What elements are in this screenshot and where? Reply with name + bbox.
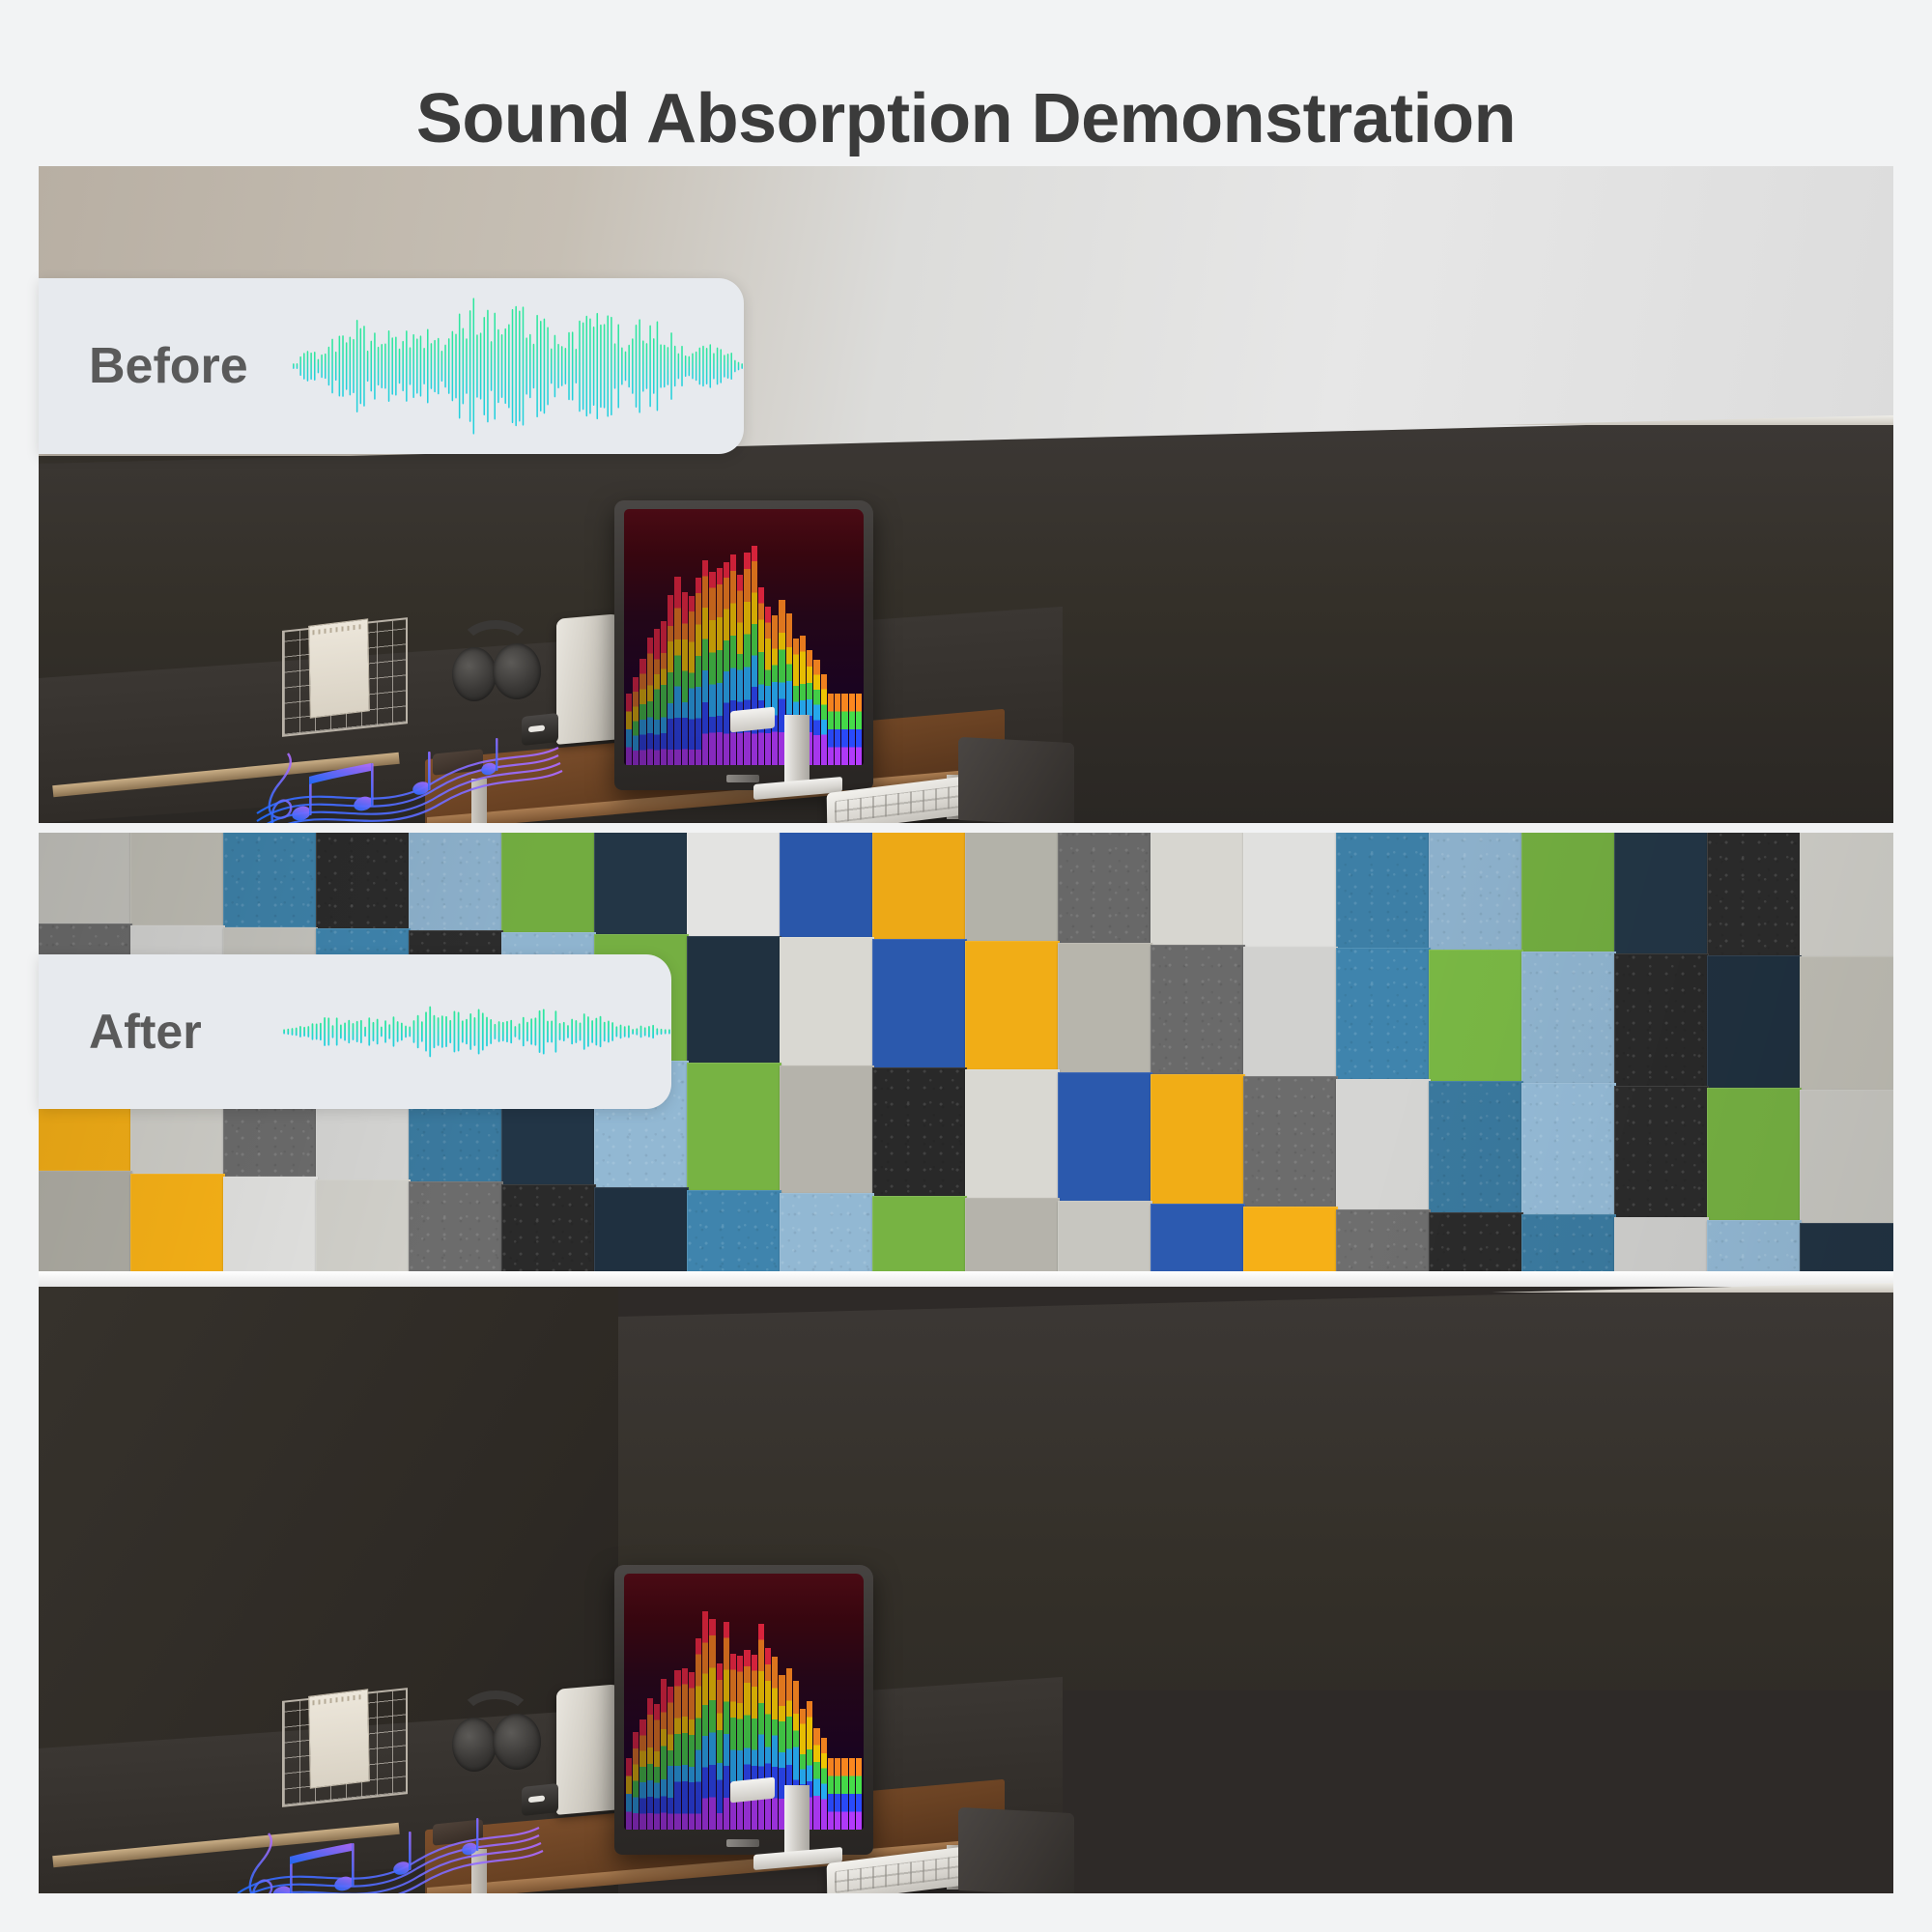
acoustic-panel (1243, 833, 1338, 948)
speaker-after (556, 1684, 620, 1815)
acoustic-panel (1800, 1090, 1893, 1225)
acoustic-panel (965, 941, 1060, 1070)
acoustic-panel (130, 833, 225, 925)
acoustic-panel (1151, 945, 1245, 1076)
acoustic-panel (501, 833, 596, 933)
speaker-control-knob (522, 713, 558, 746)
speaker-control-knob-after (522, 1783, 558, 1816)
before-badge: Before (39, 278, 744, 454)
acoustic-panel (1800, 956, 1893, 1092)
acoustic-panel (39, 833, 132, 923)
acoustic-panel (780, 937, 874, 1065)
acoustic-panel (409, 833, 503, 931)
acoustic-panel (780, 833, 874, 939)
acoustic-panel (1243, 1076, 1338, 1207)
acoustic-panel (1614, 1086, 1709, 1220)
after-waveform (282, 954, 671, 1109)
acoustic-panel (594, 833, 689, 935)
acoustic-panel (1151, 1074, 1245, 1206)
acoustic-panel (1336, 1079, 1431, 1211)
acoustic-panel (1521, 952, 1616, 1085)
acoustic-panel (1429, 1081, 1523, 1214)
acoustic-panel (872, 833, 967, 940)
monitor-logo-after (726, 1839, 759, 1847)
acoustic-panel (316, 833, 411, 929)
headphones-after (452, 1696, 541, 1770)
acoustic-panel (687, 833, 781, 937)
acoustic-panel (1429, 833, 1523, 952)
acoustic-panel (1707, 1088, 1802, 1223)
acoustic-panel (687, 936, 781, 1064)
acoustic-panel (39, 1171, 132, 1287)
acoustic-panel (223, 1177, 318, 1287)
before-scene (39, 166, 1893, 823)
panel-grid-bottom-rim (39, 1271, 1893, 1287)
right-console-after (958, 1807, 1074, 1893)
acoustic-panel (1800, 833, 1893, 959)
acoustic-panel (687, 1063, 781, 1190)
acoustic-panel (1058, 1072, 1152, 1203)
headphone-cup-left-after (452, 1718, 497, 1772)
acoustic-panel (965, 1069, 1060, 1199)
riser-leg-left-after (471, 1849, 487, 1893)
acoustic-panel (872, 939, 967, 1068)
right-console (958, 737, 1074, 823)
acoustic-panel (965, 833, 1060, 942)
headphone-cup-left (452, 647, 497, 701)
speaker (556, 613, 620, 745)
after-badge: After (39, 954, 671, 1109)
acoustic-panel (872, 1067, 967, 1197)
acoustic-panel (1614, 833, 1709, 955)
monitor-logo (726, 775, 759, 782)
monitor (614, 500, 873, 790)
acoustic-panel (1336, 948, 1431, 1080)
acoustic-panel (1243, 947, 1338, 1078)
acoustic-panel (1429, 950, 1523, 1083)
monitor-after (614, 1565, 873, 1855)
monitor-neck (784, 715, 810, 784)
headphone-cup-right-after (493, 1714, 541, 1770)
acoustic-panel (780, 1065, 874, 1194)
acoustic-panel (1614, 953, 1709, 1088)
acoustic-panel (223, 833, 318, 927)
riser-leg-left (471, 779, 487, 823)
after-label: After (89, 1004, 282, 1060)
acoustic-panel (1707, 833, 1802, 957)
acoustic-panel (130, 1174, 225, 1287)
notepad-after (308, 1689, 370, 1788)
acoustic-panel (1521, 833, 1616, 953)
notepad (308, 618, 370, 718)
acoustic-panel (1336, 833, 1431, 950)
before-label: Before (89, 337, 292, 395)
acoustic-panel (1521, 1083, 1616, 1216)
headphones (452, 626, 541, 699)
page-title: Sound Absorption Demonstration (0, 79, 1932, 158)
acoustic-panel (1058, 833, 1152, 944)
before-waveform (292, 278, 744, 454)
monitor-neck-after (784, 1785, 810, 1855)
headphone-cup-right (493, 643, 541, 699)
acoustic-panel (1151, 833, 1245, 946)
acoustic-panel (1058, 943, 1152, 1073)
acoustic-panel (1707, 955, 1802, 1091)
